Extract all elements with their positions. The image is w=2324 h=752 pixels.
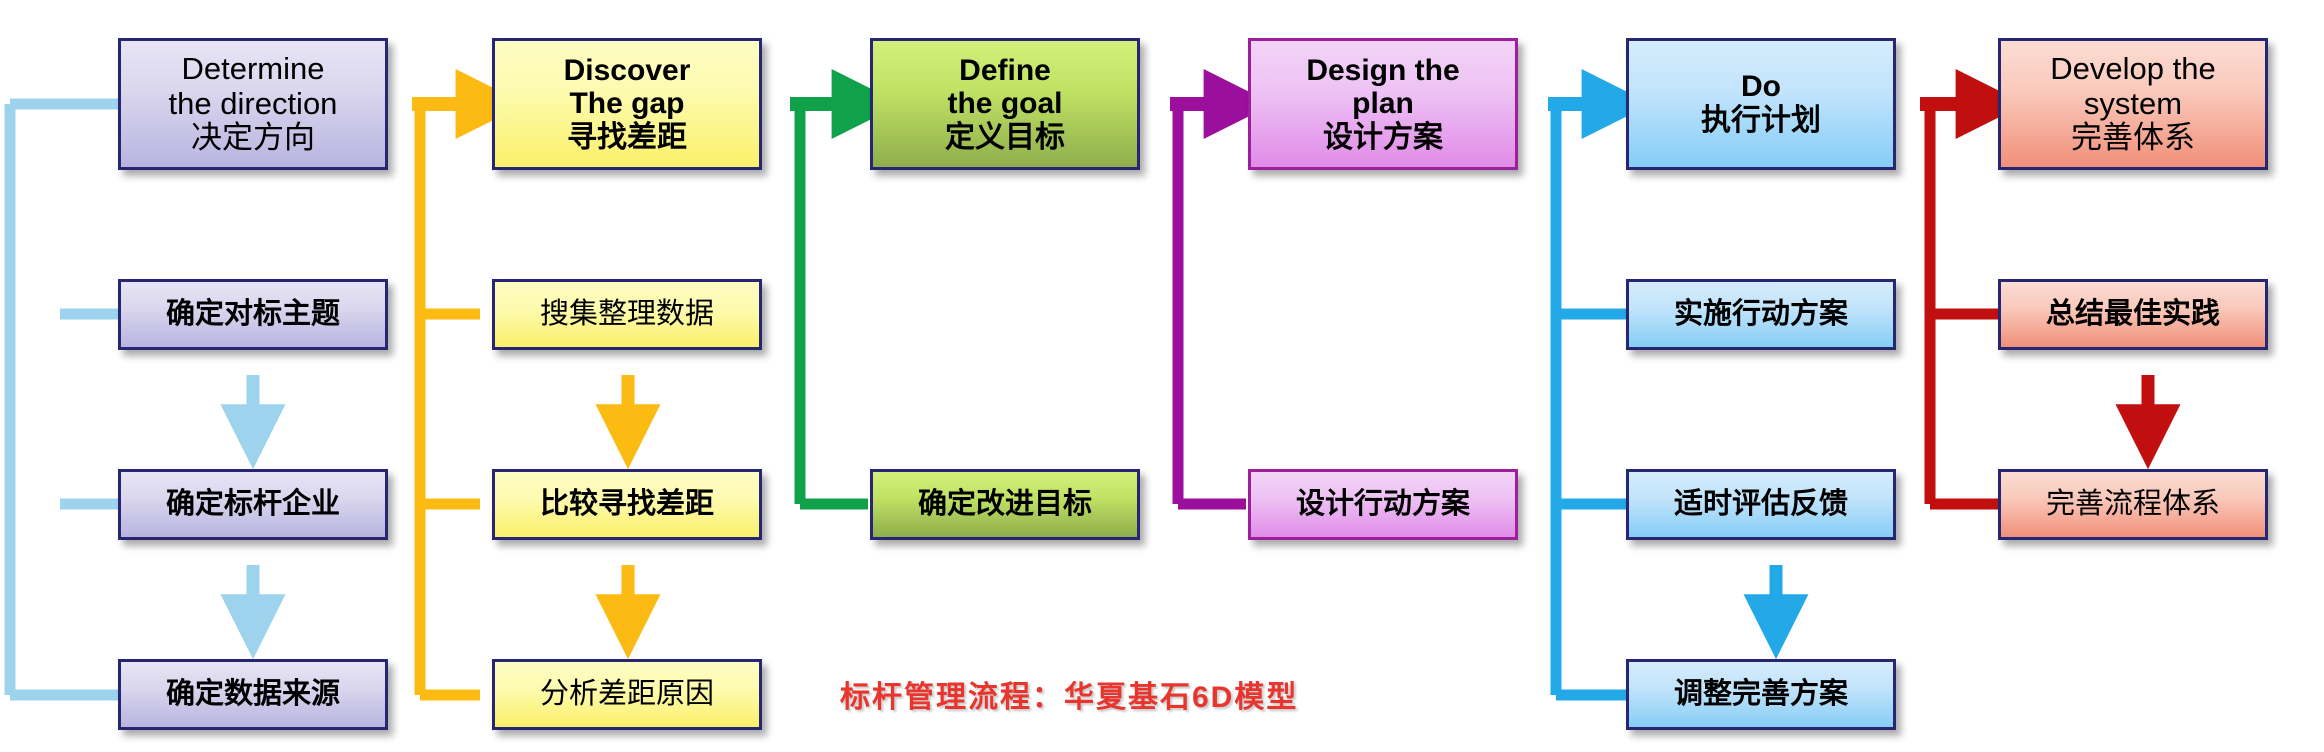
header-box-discover-label: DiscoverThe gap寻找差距: [495, 54, 759, 155]
header-box-develop-label: Develop thesystem完善体系: [2001, 52, 2265, 156]
step-box-do-3-label: 调整完善方案: [1629, 678, 1893, 710]
step-box-determine-2[interactable]: 确定标杆企业: [118, 469, 388, 540]
step-box-define-1[interactable]: 确定改进目标: [870, 469, 1140, 540]
header-box-design[interactable]: Design theplan设计方案: [1248, 38, 1518, 170]
header-box-define-label: Definethe goal定义目标: [873, 54, 1137, 155]
step-box-discover-3-label: 分析差距原因: [495, 678, 759, 710]
header-box-develop[interactable]: Develop thesystem完善体系: [1998, 38, 2268, 170]
column-2-connectors: [420, 104, 480, 695]
header-box-discover[interactable]: DiscoverThe gap寻找差距: [492, 38, 762, 170]
step-box-discover-1-label: 搜集整理数据: [495, 298, 759, 330]
step-box-design-1-label: 设计行动方案: [1251, 488, 1515, 520]
step-box-discover-1[interactable]: 搜集整理数据: [492, 279, 762, 350]
step-box-do-1[interactable]: 实施行动方案: [1626, 279, 1896, 350]
step-box-design-1[interactable]: 设计行动方案: [1248, 469, 1518, 540]
step-box-develop-1-label: 总结最佳实践: [2001, 298, 2265, 330]
step-box-discover-2[interactable]: 比较寻找差距: [492, 469, 762, 540]
step-box-determine-2-label: 确定标杆企业: [121, 488, 385, 520]
column-1-connectors: [10, 104, 118, 695]
flowchart-canvas: Determinethe direction决定方向 确定对标主题 确定标杆企业…: [0, 0, 2324, 752]
step-box-develop-2[interactable]: 完善流程体系: [1998, 469, 2268, 540]
diagram-caption: 标杆管理流程：华夏基石6D模型: [840, 672, 1298, 716]
step-box-do-2-label: 适时评估反馈: [1629, 488, 1893, 520]
step-box-determine-1[interactable]: 确定对标主题: [118, 279, 388, 350]
header-box-do[interactable]: Do执行计划: [1626, 38, 1896, 170]
step-box-develop-1[interactable]: 总结最佳实践: [1998, 279, 2268, 350]
step-box-do-1-label: 实施行动方案: [1629, 298, 1893, 330]
step-box-determine-3[interactable]: 确定数据来源: [118, 659, 388, 730]
step-box-discover-2-label: 比较寻找差距: [495, 488, 759, 520]
step-box-do-3[interactable]: 调整完善方案: [1626, 659, 1896, 730]
header-box-design-label: Design theplan设计方案: [1251, 54, 1515, 155]
step-box-do-2[interactable]: 适时评估反馈: [1626, 469, 1896, 540]
header-box-do-label: Do执行计划: [1629, 70, 1893, 137]
column-3-connectors: [800, 104, 868, 504]
column-4-connectors: [1178, 104, 1246, 504]
header-box-define[interactable]: Definethe goal定义目标: [870, 38, 1140, 170]
step-box-determine-3-label: 确定数据来源: [121, 678, 385, 710]
header-box-determine-label: Determinethe direction决定方向: [121, 52, 385, 156]
column-6-connectors: [1930, 104, 1998, 504]
step-box-discover-3[interactable]: 分析差距原因: [492, 659, 762, 730]
step-box-determine-1-label: 确定对标主题: [121, 298, 385, 330]
step-box-define-1-label: 确定改进目标: [873, 488, 1137, 520]
column-5-connectors: [1556, 104, 1626, 695]
step-box-develop-2-label: 完善流程体系: [2001, 488, 2265, 520]
header-box-determine[interactable]: Determinethe direction决定方向: [118, 38, 388, 170]
